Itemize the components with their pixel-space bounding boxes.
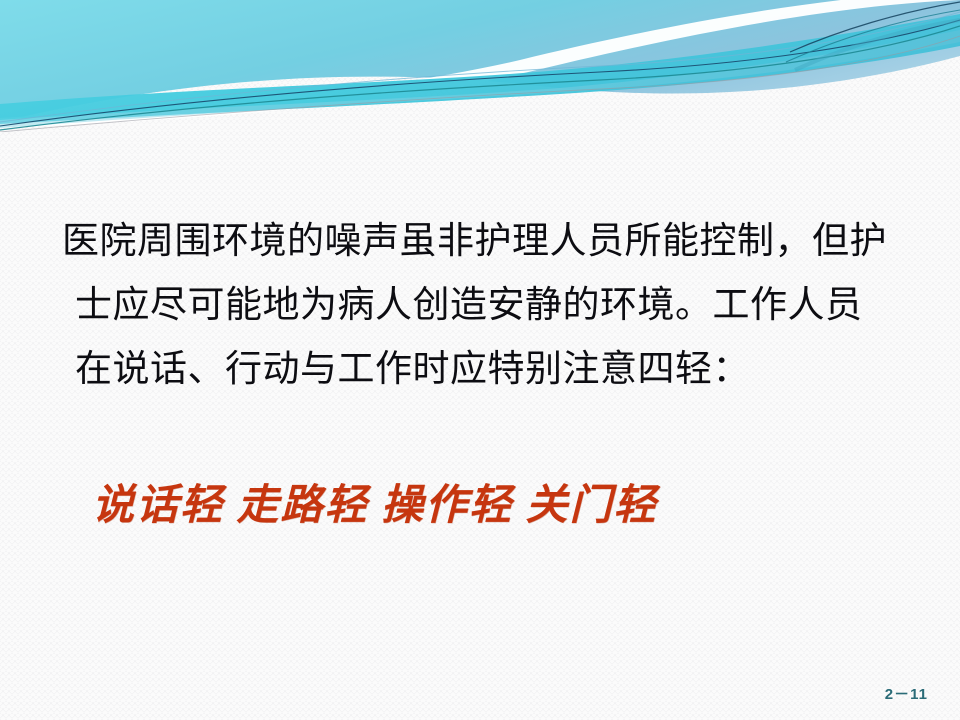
wave-ribbon-white-upper	[0, 0, 960, 128]
slide-canvas: 医院周围环境的噪声虽非护理人员所能控制，但护 士应尽可能地为病人创造安静的环境。…	[0, 0, 960, 720]
wave-band-cyan-pale	[0, 30, 960, 128]
page-number: 2－11	[885, 683, 928, 704]
wave-accent-stroke-c	[795, 20, 960, 70]
wave-hairline-grey	[0, 36, 960, 132]
wave-hairline-navy	[0, 20, 960, 126]
accent-phrase: 说话轻 走路轻 操作轻 关门轻	[92, 478, 658, 534]
wave-hairline-light	[0, 12, 960, 122]
wave-field-primary	[0, 0, 960, 122]
wave-accent-stroke-b	[786, 10, 960, 62]
wave-hairline-teal	[0, 26, 960, 130]
wave-accent-stroke-a	[790, 2, 960, 52]
body-line-3: 在说话、行动与工作时应特别注意四轻：	[62, 338, 932, 402]
body-line-2: 士应尽可能地为病人创造安静的环境。工作人员	[62, 274, 932, 338]
cyan-wave-banner	[0, 0, 960, 132]
wave-band-cyan	[0, 14, 960, 124]
body-text-block: 医院周围环境的噪声虽非护理人员所能控制，但护 士应尽可能地为病人创造安静的环境。…	[62, 210, 932, 402]
body-line-1: 医院周围环境的噪声虽非护理人员所能控制，但护	[62, 210, 932, 274]
